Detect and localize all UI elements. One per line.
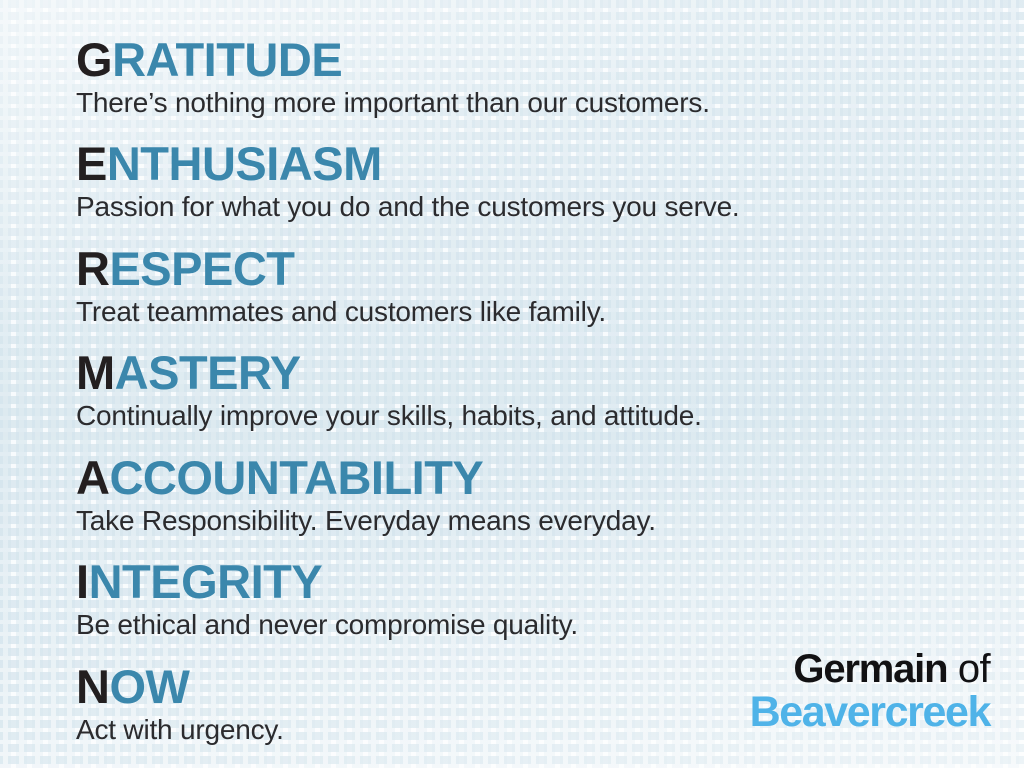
value-heading-rest: OW	[109, 660, 189, 713]
logo-connector: of	[947, 647, 990, 691]
value-heading-gratitude: GRATITUDE	[76, 36, 956, 84]
logo-line-germain-of: Germain of	[750, 649, 990, 689]
value-body-enthusiasm: Passion for what you do and the customer…	[76, 190, 956, 223]
value-initial: I	[76, 555, 89, 608]
value-body-mastery: Continually improve your skills, habits,…	[76, 399, 956, 432]
value-initial: N	[76, 660, 109, 713]
value-block-mastery: MASTERY Continually improve your skills,…	[76, 349, 956, 432]
value-body-integrity: Be ethical and never compromise quality.	[76, 608, 956, 641]
value-heading-integrity: INTEGRITY	[76, 558, 956, 606]
dealership-logo: Germain of Beavercreek	[750, 649, 990, 734]
value-initial: E	[76, 137, 107, 190]
value-heading-rest: NTHUSIASM	[107, 137, 382, 190]
value-block-gratitude: GRATITUDE There’s nothing more important…	[76, 36, 956, 119]
value-heading-rest: ESPECT	[109, 242, 294, 295]
value-block-accountability: ACCOUNTABILITY Take Responsibility. Ever…	[76, 454, 956, 537]
value-body-accountability: Take Responsibility. Everyday means ever…	[76, 504, 956, 537]
value-heading-enthusiasm: ENTHUSIASM	[76, 140, 956, 188]
value-body-gratitude: There’s nothing more important than our …	[76, 86, 956, 119]
value-initial: R	[76, 242, 109, 295]
value-heading-respect: RESPECT	[76, 245, 956, 293]
value-block-enthusiasm: ENTHUSIASM Passion for what you do and t…	[76, 140, 956, 223]
value-heading-rest: ASTERY	[115, 346, 301, 399]
value-heading-rest: NTEGRITY	[89, 555, 323, 608]
value-body-respect: Treat teammates and customers like famil…	[76, 295, 956, 328]
value-heading-rest: RATITUDE	[112, 33, 342, 86]
value-initial: A	[76, 451, 109, 504]
value-heading-mastery: MASTERY	[76, 349, 956, 397]
value-initial: G	[76, 33, 112, 86]
value-heading-accountability: ACCOUNTABILITY	[76, 454, 956, 502]
values-slide: GRATITUDE There’s nothing more important…	[0, 0, 1024, 768]
logo-brand-name: Germain	[793, 647, 947, 691]
value-block-respect: RESPECT Treat teammates and customers li…	[76, 245, 956, 328]
values-list: GRATITUDE There’s nothing more important…	[76, 36, 956, 746]
value-heading-rest: CCOUNTABILITY	[109, 451, 483, 504]
value-block-integrity: INTEGRITY Be ethical and never compromis…	[76, 558, 956, 641]
logo-line-beavercreek: Beavercreek	[750, 691, 990, 734]
value-initial: M	[76, 346, 115, 399]
